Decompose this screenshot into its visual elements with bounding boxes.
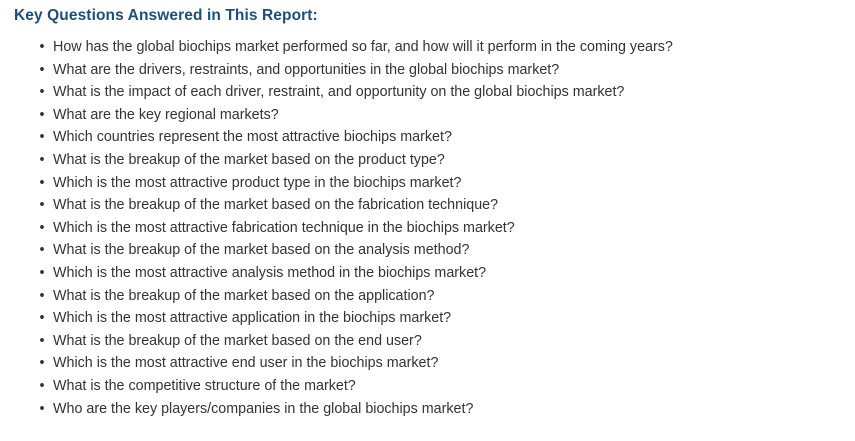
list-item: • Which is the most attractive analysis … — [0, 262, 855, 285]
question-text: What is the breakup of the market based … — [53, 333, 422, 349]
question-text: What is the impact of each driver, restr… — [53, 84, 624, 100]
question-text: What are the key regional markets? — [53, 107, 279, 123]
question-text: Which is the most attractive analysis me… — [53, 265, 486, 281]
question-text: Which is the most attractive product typ… — [53, 175, 461, 191]
question-text: Who are the key players/companies in the… — [53, 401, 473, 417]
question-text: Which countries represent the most attra… — [53, 129, 452, 145]
bullet-icon: • — [38, 352, 46, 375]
page-title: Key Questions Answered in This Report: — [14, 6, 318, 26]
bullet-icon: • — [38, 398, 46, 421]
list-item: • What is the breakup of the market base… — [0, 149, 855, 172]
list-item: • Which is the most attractive fabricati… — [0, 217, 855, 240]
list-item: • Which countries represent the most att… — [0, 126, 855, 149]
list-item: • What is the breakup of the market base… — [0, 239, 855, 262]
question-text: Which is the most attractive end user in… — [53, 355, 438, 371]
bullet-icon: • — [38, 330, 46, 353]
question-text: Which is the most attractive application… — [53, 310, 451, 326]
list-item: • What is the breakup of the market base… — [0, 285, 855, 308]
question-text: What are the drivers, restraints, and op… — [53, 62, 559, 78]
list-item: • What are the key regional markets? — [0, 104, 855, 127]
bullet-icon: • — [38, 375, 46, 398]
report-questions-page: Key Questions Answered in This Report: •… — [0, 0, 855, 441]
list-item: • Which is the most attractive end user … — [0, 352, 855, 375]
question-text: Which is the most attractive fabrication… — [53, 220, 515, 236]
bullet-icon: • — [38, 217, 46, 240]
key-questions-list: • How has the global biochips market per… — [0, 36, 855, 420]
list-item: • Which is the most attractive applicati… — [0, 307, 855, 330]
list-item: • Who are the key players/companies in t… — [0, 398, 855, 421]
question-text: What is the breakup of the market based … — [53, 242, 469, 258]
question-text: What is the breakup of the market based … — [53, 197, 498, 213]
question-text: What is the breakup of the market based … — [53, 288, 435, 304]
bullet-icon: • — [38, 59, 46, 82]
bullet-icon: • — [38, 126, 46, 149]
bullet-icon: • — [38, 172, 46, 195]
bullet-icon: • — [38, 285, 46, 308]
bullet-icon: • — [38, 239, 46, 262]
list-item: • What are the drivers, restraints, and … — [0, 59, 855, 82]
question-text: What is the competitive structure of the… — [53, 378, 356, 394]
question-text: How has the global biochips market perfo… — [53, 39, 673, 55]
bullet-icon: • — [38, 36, 46, 59]
bullet-icon: • — [38, 149, 46, 172]
bullet-icon: • — [38, 262, 46, 285]
list-item: • How has the global biochips market per… — [0, 36, 855, 59]
list-item: • Which is the most attractive product t… — [0, 172, 855, 195]
question-text: What is the breakup of the market based … — [53, 152, 445, 168]
list-item: • What is the breakup of the market base… — [0, 330, 855, 353]
bullet-icon: • — [38, 81, 46, 104]
list-item: • What is the impact of each driver, res… — [0, 81, 855, 104]
bullet-icon: • — [38, 104, 46, 127]
bullet-icon: • — [38, 194, 46, 217]
list-item: • What is the breakup of the market base… — [0, 194, 855, 217]
bullet-icon: • — [38, 307, 46, 330]
list-item: • What is the competitive structure of t… — [0, 375, 855, 398]
